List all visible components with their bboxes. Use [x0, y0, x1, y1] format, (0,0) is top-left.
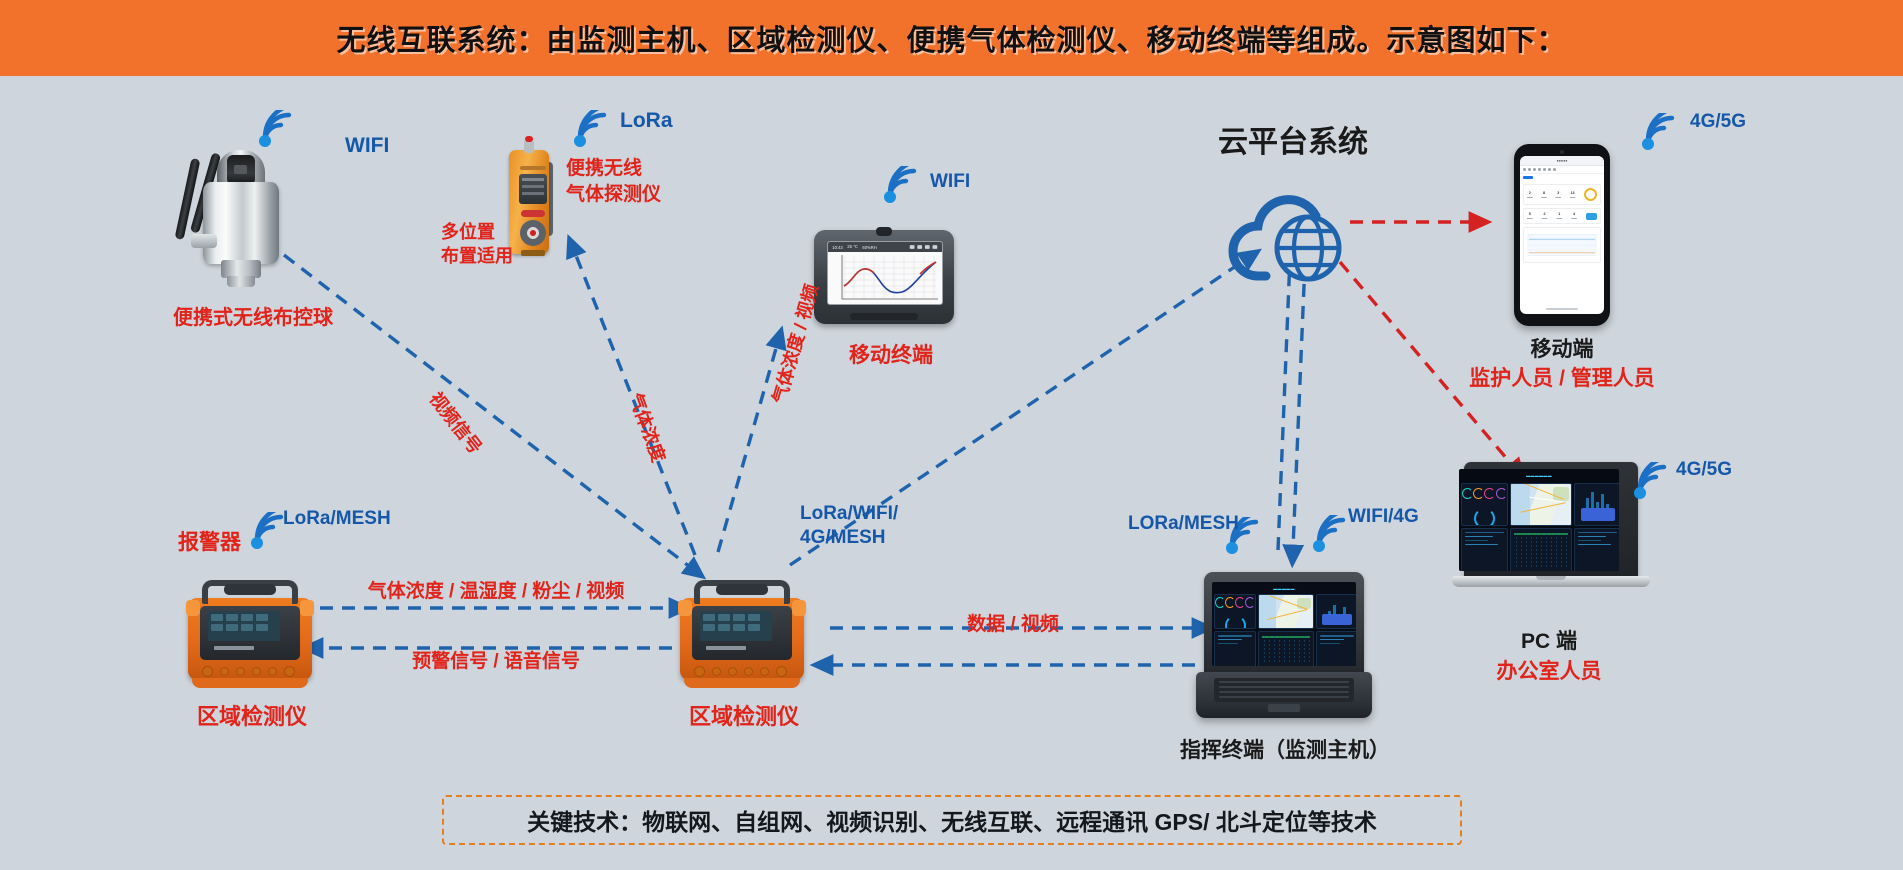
- detector-grip: [224, 584, 276, 595]
- phone-toolbar: [1520, 166, 1604, 174]
- detector-shoulder-left: [678, 600, 692, 616]
- handheld-label-line1: 便携无线: [566, 157, 642, 181]
- handheld-note-line2: 布置适用: [441, 245, 513, 268]
- cloud-globe-icon: [1220, 178, 1380, 288]
- header-banner: 无线互联系统：由监测主机、区域检测仪、便携气体检测仪、移动终端等组成。示意图如下…: [0, 0, 1903, 76]
- phone-app-header: ●●●●●: [1520, 156, 1604, 166]
- link-label-detector-top: 气体浓度 / 温湿度 / 粉尘 / 视频: [368, 580, 625, 604]
- link-label-detector-bottom: 预警信号 / 语音信号: [412, 650, 580, 674]
- list-panel-right: [1574, 528, 1619, 571]
- log-panel: [1510, 528, 1572, 571]
- area-detector-right-label: 区域检测仪: [689, 703, 799, 731]
- link-label-gas-concentration: 气体浓度: [624, 390, 670, 465]
- wire-cloud-to-terminal: [1293, 262, 1305, 548]
- wifi-icon-tablet: [880, 166, 926, 206]
- handheld-signal-label: LoRa: [620, 108, 673, 134]
- detector-display: [208, 611, 280, 641]
- phone-camera-icon: [1560, 150, 1564, 154]
- tablet-temp: 25 ℃: [847, 244, 857, 250]
- detector-dpad: [520, 220, 546, 246]
- phone-home-indicator: [1546, 308, 1578, 310]
- link-label-video-signal: 视频信号: [424, 388, 486, 459]
- rugged-laptop-icon: ▬▬▬▬▬: [1196, 572, 1372, 722]
- pc-label-bottom: 办公室人员: [1497, 659, 1602, 685]
- terminal-screen: ▬▬▬▬▬: [1212, 582, 1356, 666]
- detector-controls: [202, 666, 295, 677]
- detector-screen: [519, 174, 547, 204]
- terminal-map-panel: [1258, 594, 1314, 629]
- camera-ball-label: 便携式无线布控球: [173, 306, 333, 331]
- link-label-lora-wifi-line2: 4G/MESH: [800, 526, 886, 550]
- tablet-humidity: 60%RH: [862, 245, 876, 250]
- area-gas-detector-icon-right: [678, 580, 806, 688]
- cloud-platform-title: 云平台系统: [1218, 124, 1368, 162]
- smartphone-icon: ●●●●● 2▬▬ 8▬▬ 3▬▬ 13▬▬ 5▬▬ 2▬▬ 1▬▬ 4▬▬: [1514, 144, 1610, 326]
- stats-panel: [1574, 483, 1619, 526]
- detector-controls: [694, 666, 787, 677]
- gauge-panel: [1461, 483, 1508, 526]
- detector-case: [509, 150, 549, 254]
- dashboard-title-bar: ▬▬▬▬▬▬: [1461, 471, 1617, 481]
- link-label-lora-wifi-line1: LoRa/WIFI/: [800, 502, 898, 526]
- phone-card-2: 5▬▬ 2▬▬ 1▬▬ 4▬▬: [1523, 208, 1601, 224]
- status-chip-icon: [1586, 213, 1597, 220]
- detector-brand: [214, 646, 254, 650]
- tablet-signal-label: WIFI: [930, 170, 970, 194]
- tablet-screen: 10:43 25 ℃ 60%RH: [827, 241, 943, 305]
- command-terminal-label: 指挥终端（监测主机）: [1180, 738, 1390, 764]
- terminal-signal-left-label: LORa/MESH: [1128, 512, 1239, 536]
- link-label-data-video: 数据 / 视频: [967, 613, 1059, 637]
- area-gas-detector-icon-left: [186, 580, 314, 688]
- tablet-trend-chart: [828, 252, 942, 304]
- key-technologies-text: 关键技术：物联网、自组网、视频识别、无线互联、远程通讯 GPS/ 北斗定位等技术: [527, 803, 1377, 837]
- pc-label-top: PC 端: [1521, 629, 1577, 655]
- terminal-title-bar: ▬▬▬▬▬: [1214, 584, 1354, 592]
- wire-detector-to-tablet: [718, 345, 777, 552]
- phone-card-1: 2▬▬ 8▬▬ 3▬▬ 13▬▬: [1523, 184, 1601, 205]
- camera-body: [203, 182, 279, 264]
- terminal-gauge-panel: [1214, 594, 1256, 629]
- banner-title: 无线互联系统：由监测主机、区域检测仪、便携气体检测仪、移动终端等组成。示意图如下…: [336, 17, 1566, 59]
- laptop-icon: ▬▬▬▬▬▬: [1452, 462, 1650, 604]
- wifi-icon-phone: [1638, 113, 1684, 153]
- phone-label-top: 移动端: [1531, 337, 1594, 363]
- tablet-status-icons: [910, 245, 938, 249]
- terminal-signal-right-label: WIFI/4G: [1348, 505, 1419, 529]
- status-ring-icon: [1584, 188, 1597, 201]
- mobile-terminal-label: 移动终端: [849, 343, 933, 369]
- detector-grip: [716, 584, 768, 595]
- sensor-probe-icon: [524, 140, 534, 153]
- detector-alarm-button: [521, 210, 545, 217]
- area-detector-left-label: 区域检测仪: [197, 703, 307, 731]
- laptop-screen: ▬▬▬▬▬▬: [1459, 469, 1619, 571]
- detector-vent: [521, 250, 545, 256]
- handheld-label-line2: 气体探测仪: [566, 183, 661, 207]
- phone-tabbar: [1520, 174, 1604, 181]
- wifi-icon-camera: [255, 110, 301, 150]
- handheld-gas-detector-icon: [505, 140, 557, 258]
- detector-feet: [684, 678, 800, 688]
- detector-feet: [192, 678, 308, 688]
- camera-signal-label: WIFI: [345, 133, 389, 159]
- list-panel-left: [1461, 528, 1508, 571]
- detector-display: [700, 611, 772, 641]
- terminal-list-right: [1316, 631, 1356, 666]
- tablet-bumper: [876, 227, 892, 236]
- camera-hinge: [191, 234, 217, 248]
- camera-foot: [227, 276, 255, 287]
- detector-grill: [520, 166, 546, 170]
- terminal-stats-panel: [1316, 594, 1356, 629]
- phone-screen: ●●●●● 2▬▬ 8▬▬ 3▬▬ 13▬▬ 5▬▬ 2▬▬ 1▬▬ 4▬▬: [1520, 156, 1604, 314]
- phone-label-bottom: 监护人员 / 管理人员: [1469, 366, 1655, 392]
- phone-chart: [1523, 227, 1601, 263]
- detector-shoulder-right: [300, 600, 314, 616]
- laptop-notch: [1536, 576, 1566, 580]
- detector-shoulder-right: [792, 600, 806, 616]
- alarm-label: 报警器: [178, 530, 241, 556]
- terminal-touchpad: [1268, 704, 1300, 712]
- camera-lens-icon: [227, 155, 255, 185]
- terminal-dashboard: ▬▬▬▬▬: [1212, 582, 1356, 666]
- rugged-tablet-icon: 10:43 25 ℃ 60%RH: [814, 230, 954, 324]
- tablet-time: 10:43: [832, 245, 842, 250]
- terminal-keyboard: [1214, 678, 1354, 702]
- terminal-log: [1258, 631, 1314, 666]
- wire-terminal-to-cloud: [1278, 258, 1290, 550]
- handheld-note-line1: 多位置: [441, 221, 495, 244]
- detector-shoulder-left: [186, 600, 200, 616]
- key-technologies-box: 关键技术：物联网、自组网、视频识别、无线互联、远程通讯 GPS/ 北斗定位等技术: [442, 795, 1462, 845]
- alarm-signal-label: LoRa/MESH: [283, 507, 391, 531]
- wire-cloud-to-pc: [1340, 262, 1513, 466]
- pc-dashboard: ▬▬▬▬▬▬: [1459, 469, 1619, 571]
- terminal-list-left: [1214, 631, 1256, 666]
- link-label-gas-and-video: 气体浓度 / 视频: [768, 282, 824, 406]
- tablet-buttons: [850, 313, 918, 320]
- map-panel: [1510, 483, 1572, 526]
- pc-signal-label: 4G/5G: [1676, 458, 1732, 482]
- wifi-icon-handheld: [570, 110, 616, 150]
- detector-brand: [706, 646, 746, 650]
- tablet-statusbar: 10:43 25 ℃ 60%RH: [828, 242, 942, 252]
- wifi-icon-pc: [1630, 462, 1676, 502]
- diagram-canvas: 无线互联系统：由监测主机、区域检测仪、便携气体检测仪、移动终端等组成。示意图如下…: [0, 0, 1903, 870]
- phone-signal-label: 4G/5G: [1690, 110, 1746, 134]
